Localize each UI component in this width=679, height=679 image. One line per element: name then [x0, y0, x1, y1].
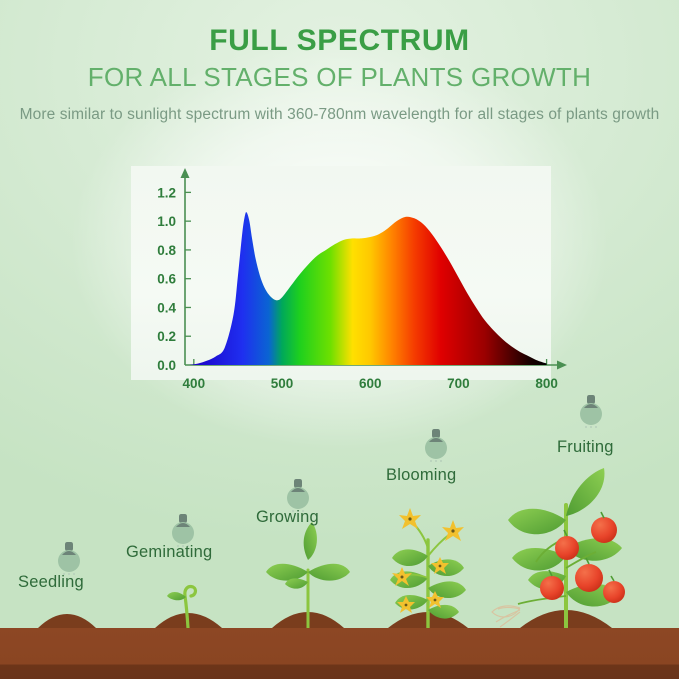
stage-label-blooming: Blooming — [386, 466, 456, 485]
stage-label-fruiting: Fruiting — [557, 438, 614, 457]
fruit — [540, 576, 564, 600]
stage-label-geminating: Geminating — [126, 543, 212, 562]
plant-growth-scene — [0, 0, 679, 679]
fruit — [591, 517, 617, 543]
bulb-icon-blooming — [423, 428, 449, 462]
bulb-icon-fruiting — [578, 394, 604, 428]
bulb-icon-growing — [285, 478, 311, 512]
fruit — [603, 581, 625, 603]
fruit — [575, 564, 603, 592]
stage-label-growing: Growing — [256, 508, 319, 527]
soil-band — [0, 628, 679, 679]
soil-mounds — [38, 610, 612, 628]
bulb-icon-seedling — [56, 541, 82, 575]
stage-label-seedling: Seedling — [18, 573, 84, 592]
bulb-icon-geminating — [170, 513, 196, 547]
fruit — [555, 536, 579, 560]
